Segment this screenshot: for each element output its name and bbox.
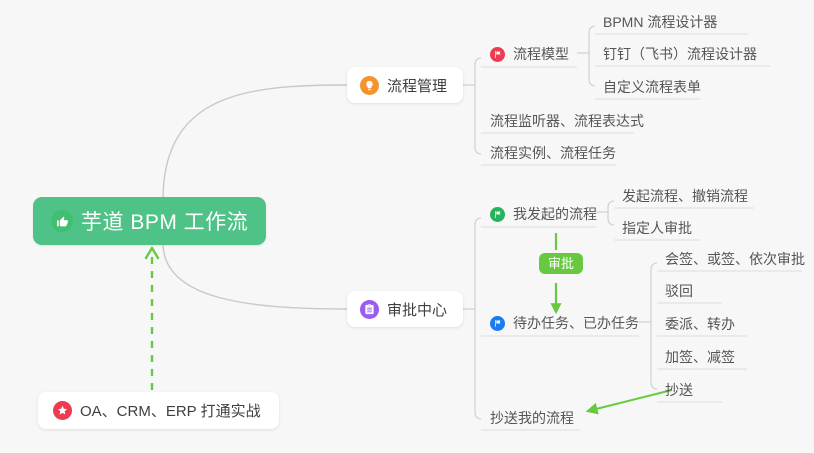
branch-line-root-to-process-management	[163, 85, 347, 200]
node-custom-process-form-label: 自定义流程表单	[603, 77, 701, 97]
node-process-listener-expression-label: 流程监听器、流程表达式	[490, 111, 644, 131]
relation-line-cc	[588, 390, 672, 411]
node-my-initiated-process[interactable]: 我发起的流程	[490, 201, 603, 227]
node-reject-label: 驳回	[665, 281, 693, 301]
flag-icon	[490, 316, 505, 331]
branch-trunk-my-initiated-process	[608, 201, 614, 225]
node-process-model-label: 流程模型	[513, 44, 569, 64]
node-delegate-transfer-label: 委派、转办	[665, 314, 735, 334]
branch-trunk-process-management	[475, 58, 481, 154]
node-bpmn-designer-label: BPMN 流程设计器	[603, 12, 717, 32]
node-assignee-approval-label: 指定人审批	[622, 218, 692, 238]
branch-line-root-to-approval-center	[163, 243, 347, 309]
lightbulb-icon	[360, 76, 379, 95]
node-countersign-label: 会签、或签、依次审批	[665, 249, 805, 269]
node-assignee-approval[interactable]: 指定人审批	[620, 215, 698, 241]
relation-label-approval[interactable]: 审批	[539, 253, 583, 274]
node-process-instance-task[interactable]: 流程实例、流程任务	[488, 140, 622, 166]
node-custom-process-form[interactable]: 自定义流程表单	[601, 74, 707, 100]
branch-trunk-todo-done-tasks	[651, 263, 657, 389]
node-cc-to-me-process-label: 抄送我的流程	[490, 408, 574, 428]
floating-node-integration-practice-label: OA、CRM、ERP 打通实战	[80, 400, 261, 421]
thumbs-up-icon	[51, 210, 73, 232]
node-process-model[interactable]: 流程模型	[490, 41, 575, 67]
branch-node-approval-center[interactable]: 审批中心	[347, 291, 463, 327]
node-cc-label: 抄送	[665, 380, 693, 400]
flag-icon	[490, 207, 505, 222]
node-start-cancel-process[interactable]: 发起流程、撤销流程	[620, 183, 754, 209]
node-dingtalk-feishu-designer[interactable]: 钉钉（飞书）流程设计器	[601, 41, 763, 67]
node-todo-done-tasks-label: 待办任务、已办任务	[513, 313, 639, 333]
star-icon	[53, 401, 72, 420]
node-bpmn-designer[interactable]: BPMN 流程设计器	[601, 9, 723, 35]
floating-node-integration-practice[interactable]: OA、CRM、ERP 打通实战	[38, 392, 279, 429]
mindmap-canvas[interactable]: 审批 芋道 BPM 工作流 流程管理 流程模型 BPMN 流程设计器 钉钉（飞书	[0, 0, 814, 453]
flag-icon	[490, 47, 505, 62]
node-todo-done-tasks[interactable]: 待办任务、已办任务	[490, 310, 645, 336]
node-cc-to-me-process[interactable]: 抄送我的流程	[488, 405, 580, 431]
node-reject[interactable]: 驳回	[663, 278, 699, 304]
branch-trunk-approval-center	[475, 218, 481, 419]
node-countersign[interactable]: 会签、或签、依次审批	[663, 246, 811, 272]
node-process-instance-task-label: 流程实例、流程任务	[490, 143, 616, 163]
node-my-initiated-process-label: 我发起的流程	[513, 204, 597, 224]
node-cc[interactable]: 抄送	[663, 377, 699, 403]
node-add-remove-sign-label: 加签、减签	[665, 347, 735, 367]
clipboard-icon	[360, 300, 379, 319]
branch-trunk-process-model	[589, 26, 595, 86]
node-start-cancel-process-label: 发起流程、撤销流程	[622, 186, 748, 206]
root-node[interactable]: 芋道 BPM 工作流	[33, 197, 266, 245]
branch-node-approval-center-label: 审批中心	[387, 299, 447, 320]
branch-node-process-management[interactable]: 流程管理	[347, 67, 463, 103]
node-add-remove-sign[interactable]: 加签、减签	[663, 344, 741, 370]
relation-arrowhead-integration	[146, 248, 158, 258]
node-dingtalk-feishu-designer-label: 钉钉（飞书）流程设计器	[603, 44, 757, 64]
branch-node-process-management-label: 流程管理	[387, 75, 447, 96]
node-process-listener-expression[interactable]: 流程监听器、流程表达式	[488, 108, 650, 134]
node-delegate-transfer[interactable]: 委派、转办	[663, 311, 741, 337]
root-node-label: 芋道 BPM 工作流	[81, 206, 248, 236]
